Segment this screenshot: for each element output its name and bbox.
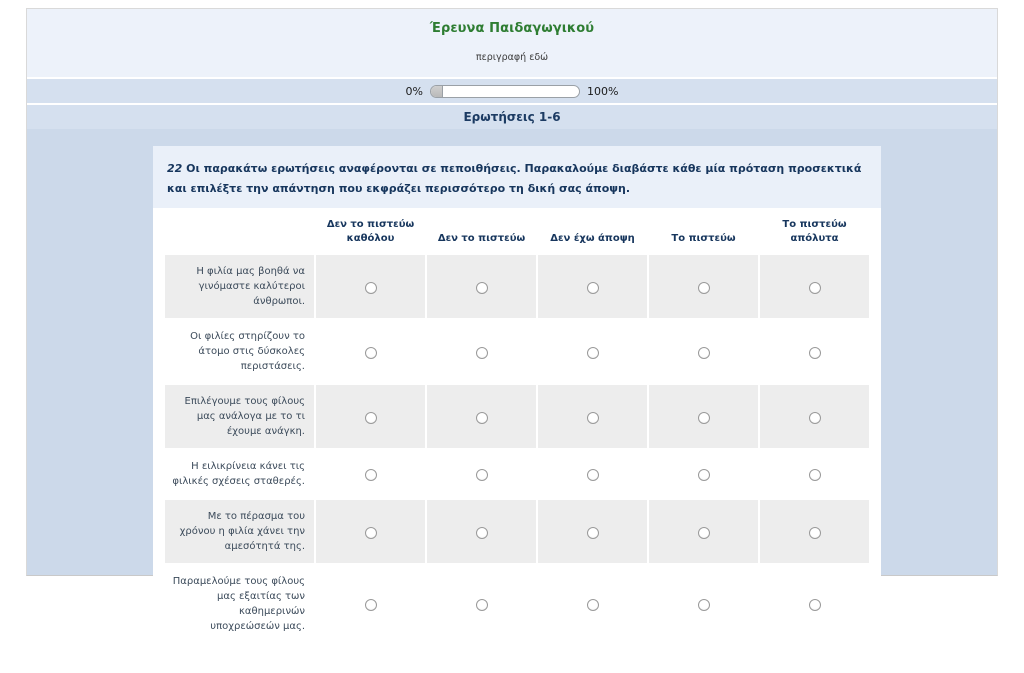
question-text: 22 Οι παρακάτω ερωτήσεις αναφέρονται σε …: [167, 162, 861, 195]
radio-button-r3c2[interactable]: [476, 412, 488, 424]
question-card: 22 Οι παρακάτω ερωτήσεις αναφέρονται σε …: [153, 146, 881, 673]
matrix-cell-r3c4[interactable]: [649, 385, 758, 448]
matrix-corner-cell: [165, 216, 314, 253]
matrix-cell-r5c5[interactable]: [760, 500, 869, 563]
matrix-cell-r2c4[interactable]: [649, 320, 758, 383]
matrix-cell-r5c2[interactable]: [427, 500, 536, 563]
survey-body: 22 Οι παρακάτω ερωτήσεις αναφέρονται σε …: [27, 129, 997, 575]
question-prompt: 22 Οι παρακάτω ερωτήσεις αναφέρονται σε …: [153, 146, 881, 208]
matrix-cell-r1c2[interactable]: [427, 255, 536, 318]
matrix-body: Η φιλία μας βοηθά να γινόμαστε καλύτεροι…: [165, 255, 869, 643]
radio-button-r2c4[interactable]: [698, 347, 710, 359]
matrix-cell-r3c5[interactable]: [760, 385, 869, 448]
radio-button-r5c3[interactable]: [587, 527, 599, 539]
matrix-header: Δεν το πιστεύω καθόλου Δεν το πιστεύω Δε…: [165, 216, 869, 253]
radio-button-r1c5[interactable]: [809, 282, 821, 294]
question-number: 22: [167, 162, 182, 175]
matrix-column-header-4: Το πιστεύω: [649, 216, 758, 253]
page-title: Έρευνα Παιδαγωγικού: [27, 21, 997, 36]
matrix-cell-r4c4[interactable]: [649, 450, 758, 498]
radio-button-r1c3[interactable]: [587, 282, 599, 294]
matrix-cell-r4c2[interactable]: [427, 450, 536, 498]
radio-button-r3c5[interactable]: [809, 412, 821, 424]
radio-button-r2c1[interactable]: [365, 347, 377, 359]
matrix-cell-r2c5[interactable]: [760, 320, 869, 383]
progress-max-label: 100%: [587, 85, 618, 98]
matrix-column-header-3: Δεν έχω άποψη: [538, 216, 647, 253]
radio-button-r6c5[interactable]: [809, 599, 821, 611]
radio-button-r4c2[interactable]: [476, 469, 488, 481]
table-row: Η ειλικρίνεια κάνει τις φιλικές σχέσεις …: [165, 450, 869, 498]
radio-button-r5c5[interactable]: [809, 527, 821, 539]
matrix-cell-r2c2[interactable]: [427, 320, 536, 383]
matrix-cell-r1c5[interactable]: [760, 255, 869, 318]
matrix-header-row: Δεν το πιστεύω καθόλου Δεν το πιστεύω Δε…: [165, 216, 869, 253]
radio-button-r1c1[interactable]: [365, 282, 377, 294]
table-row: Με το πέρασμα του χρόνου η φιλία χάνει τ…: [165, 500, 869, 563]
radio-button-r6c3[interactable]: [587, 599, 599, 611]
radio-button-r2c3[interactable]: [587, 347, 599, 359]
matrix-cell-r5c4[interactable]: [649, 500, 758, 563]
matrix-column-header-5: Το πιστεύω απόλυτα: [760, 216, 869, 253]
matrix-cell-r3c3[interactable]: [538, 385, 647, 448]
radio-button-r3c4[interactable]: [698, 412, 710, 424]
matrix-row-label-2: Οι φιλίες στηρίζουν το άτομο στις δύσκολ…: [165, 320, 314, 383]
survey-frame: Έρευνα Παιδαγωγικού περιγραφή εδώ 0% 100…: [26, 8, 998, 576]
radio-button-r5c4[interactable]: [698, 527, 710, 539]
matrix-cell-r5c3[interactable]: [538, 500, 647, 563]
radio-button-r6c1[interactable]: [365, 599, 377, 611]
matrix-column-header-2: Δεν το πιστεύω: [427, 216, 536, 253]
matrix-row-label-3: Επιλέγουμε τους φίλους μας ανάλογα με το…: [165, 385, 314, 448]
matrix-column-header-1: Δεν το πιστεύω καθόλου: [316, 216, 425, 253]
progress-bar: [430, 85, 580, 98]
question-body: Οι παρακάτω ερωτήσεις αναφέρονται σε πεπ…: [167, 162, 861, 195]
radio-button-r3c1[interactable]: [365, 412, 377, 424]
radio-button-r6c2[interactable]: [476, 599, 488, 611]
table-row: Επιλέγουμε τους φίλους μας ανάλογα με το…: [165, 385, 869, 448]
matrix-cell-r2c3[interactable]: [538, 320, 647, 383]
radio-button-r6c4[interactable]: [698, 599, 710, 611]
section-title: Ερωτήσεις 1-6: [463, 110, 560, 124]
radio-button-r1c2[interactable]: [476, 282, 488, 294]
matrix-cell-r4c5[interactable]: [760, 450, 869, 498]
matrix-cell-r1c1[interactable]: [316, 255, 425, 318]
matrix-cell-r6c3[interactable]: [538, 565, 647, 643]
matrix-cell-r1c3[interactable]: [538, 255, 647, 318]
matrix-cell-r4c1[interactable]: [316, 450, 425, 498]
matrix-cell-r3c1[interactable]: [316, 385, 425, 448]
radio-button-r4c3[interactable]: [587, 469, 599, 481]
progress-min-label: 0%: [406, 85, 423, 98]
radio-button-r4c4[interactable]: [698, 469, 710, 481]
matrix-row-label-4: Η ειλικρίνεια κάνει τις φιλικές σχέσεις …: [165, 450, 314, 498]
radio-button-r5c2[interactable]: [476, 527, 488, 539]
matrix-question-grid: Δεν το πιστεύω καθόλου Δεν το πιστεύω Δε…: [163, 214, 871, 645]
matrix-row-label-6: Παραμελούμε τους φίλους μας εξαιτίας των…: [165, 565, 314, 643]
matrix-cell-r6c5[interactable]: [760, 565, 869, 643]
matrix-cell-r5c1[interactable]: [316, 500, 425, 563]
radio-button-r4c5[interactable]: [809, 469, 821, 481]
matrix-cell-r1c4[interactable]: [649, 255, 758, 318]
matrix-cell-r3c2[interactable]: [427, 385, 536, 448]
survey-description: περιγραφή εδώ: [27, 52, 997, 63]
matrix-cell-r4c3[interactable]: [538, 450, 647, 498]
matrix-cell-r6c4[interactable]: [649, 565, 758, 643]
table-row: Παραμελούμε τους φίλους μας εξαιτίας των…: [165, 565, 869, 643]
progress-bar-container: 0% 100%: [27, 79, 997, 105]
table-row: Η φιλία μας βοηθά να γινόμαστε καλύτεροι…: [165, 255, 869, 318]
table-row: Οι φιλίες στηρίζουν το άτομο στις δύσκολ…: [165, 320, 869, 383]
survey-header: Έρευνα Παιδαγωγικού περιγραφή εδώ: [27, 9, 997, 79]
radio-button-r5c1[interactable]: [365, 527, 377, 539]
radio-button-r4c1[interactable]: [365, 469, 377, 481]
progress-bar-fill: [431, 86, 443, 97]
radio-button-r2c2[interactable]: [476, 347, 488, 359]
section-header: Ερωτήσεις 1-6: [27, 105, 997, 129]
radio-button-r3c3[interactable]: [587, 412, 599, 424]
radio-button-r1c4[interactable]: [698, 282, 710, 294]
matrix-row-label-5: Με το πέρασμα του χρόνου η φιλία χάνει τ…: [165, 500, 314, 563]
matrix-cell-r2c1[interactable]: [316, 320, 425, 383]
matrix-cell-r6c1[interactable]: [316, 565, 425, 643]
matrix-row-label-1: Η φιλία μας βοηθά να γινόμαστε καλύτεροι…: [165, 255, 314, 318]
radio-button-r2c5[interactable]: [809, 347, 821, 359]
matrix-cell-r6c2[interactable]: [427, 565, 536, 643]
